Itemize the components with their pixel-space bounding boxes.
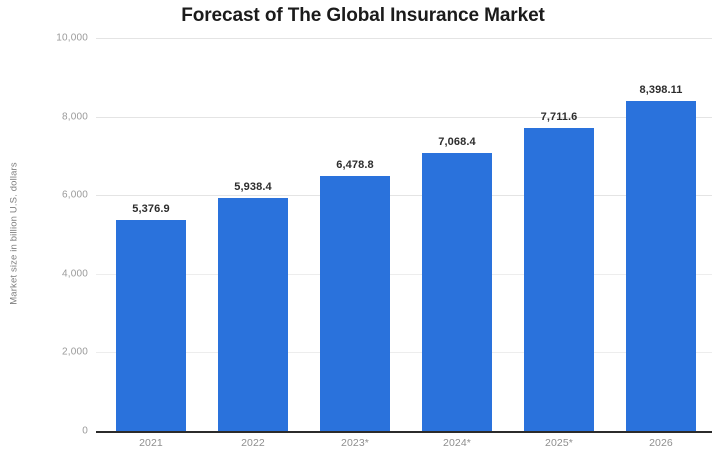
bar-2022[interactable]: 5,938.4: [218, 198, 288, 431]
y-tick-0: 0: [10, 426, 88, 437]
bar-2023[interactable]: 6,478.8: [320, 176, 390, 431]
x-tick-2022: 2022: [241, 437, 265, 449]
x-tick-2024: 2024*: [443, 437, 471, 449]
x-tick-2021: 2021: [139, 437, 163, 449]
plot-area: 5,376.9 5,938.4 6,478.8 7,068.4 7,711.6 …: [96, 38, 712, 431]
bar-value-2022: 5,938.4: [234, 181, 271, 193]
bar-value-2021: 5,376.9: [132, 203, 169, 215]
x-axis-line: [96, 431, 712, 433]
bar-chart: Forecast of The Global Insurance Market …: [0, 0, 726, 462]
bar-value-2023: 6,478.8: [336, 159, 373, 171]
bar-2021[interactable]: 5,376.9: [116, 220, 186, 431]
x-tick-2025: 2025*: [545, 437, 573, 449]
bar-2026[interactable]: 8,398.11: [626, 101, 696, 431]
bar-2025[interactable]: 7,711.6: [524, 128, 594, 431]
y-tick-8000: 8,000: [10, 111, 88, 122]
y-tick-10000: 10,000: [10, 33, 88, 44]
y-tick-6000: 6,000: [10, 190, 88, 201]
bar-2024[interactable]: 7,068.4: [422, 153, 492, 431]
y-axis-title: Market size in billion U.S. dollars: [9, 134, 20, 334]
y-tick-4000: 4,000: [10, 268, 88, 279]
y-tick-2000: 2,000: [10, 347, 88, 358]
gridline-10000: [96, 38, 712, 39]
chart-title: Forecast of The Global Insurance Market: [0, 5, 726, 27]
gridline-2000: [96, 352, 712, 353]
x-tick-2023: 2023*: [341, 437, 369, 449]
gridline-8000: [96, 117, 712, 118]
gridline-6000: [96, 195, 712, 196]
x-tick-2026: 2026: [649, 437, 673, 449]
bar-value-2026: 8,398.11: [639, 84, 682, 96]
bar-value-2024: 7,068.4: [438, 136, 475, 148]
bar-value-2025: 7,711.6: [541, 111, 578, 123]
gridline-4000: [96, 274, 712, 275]
